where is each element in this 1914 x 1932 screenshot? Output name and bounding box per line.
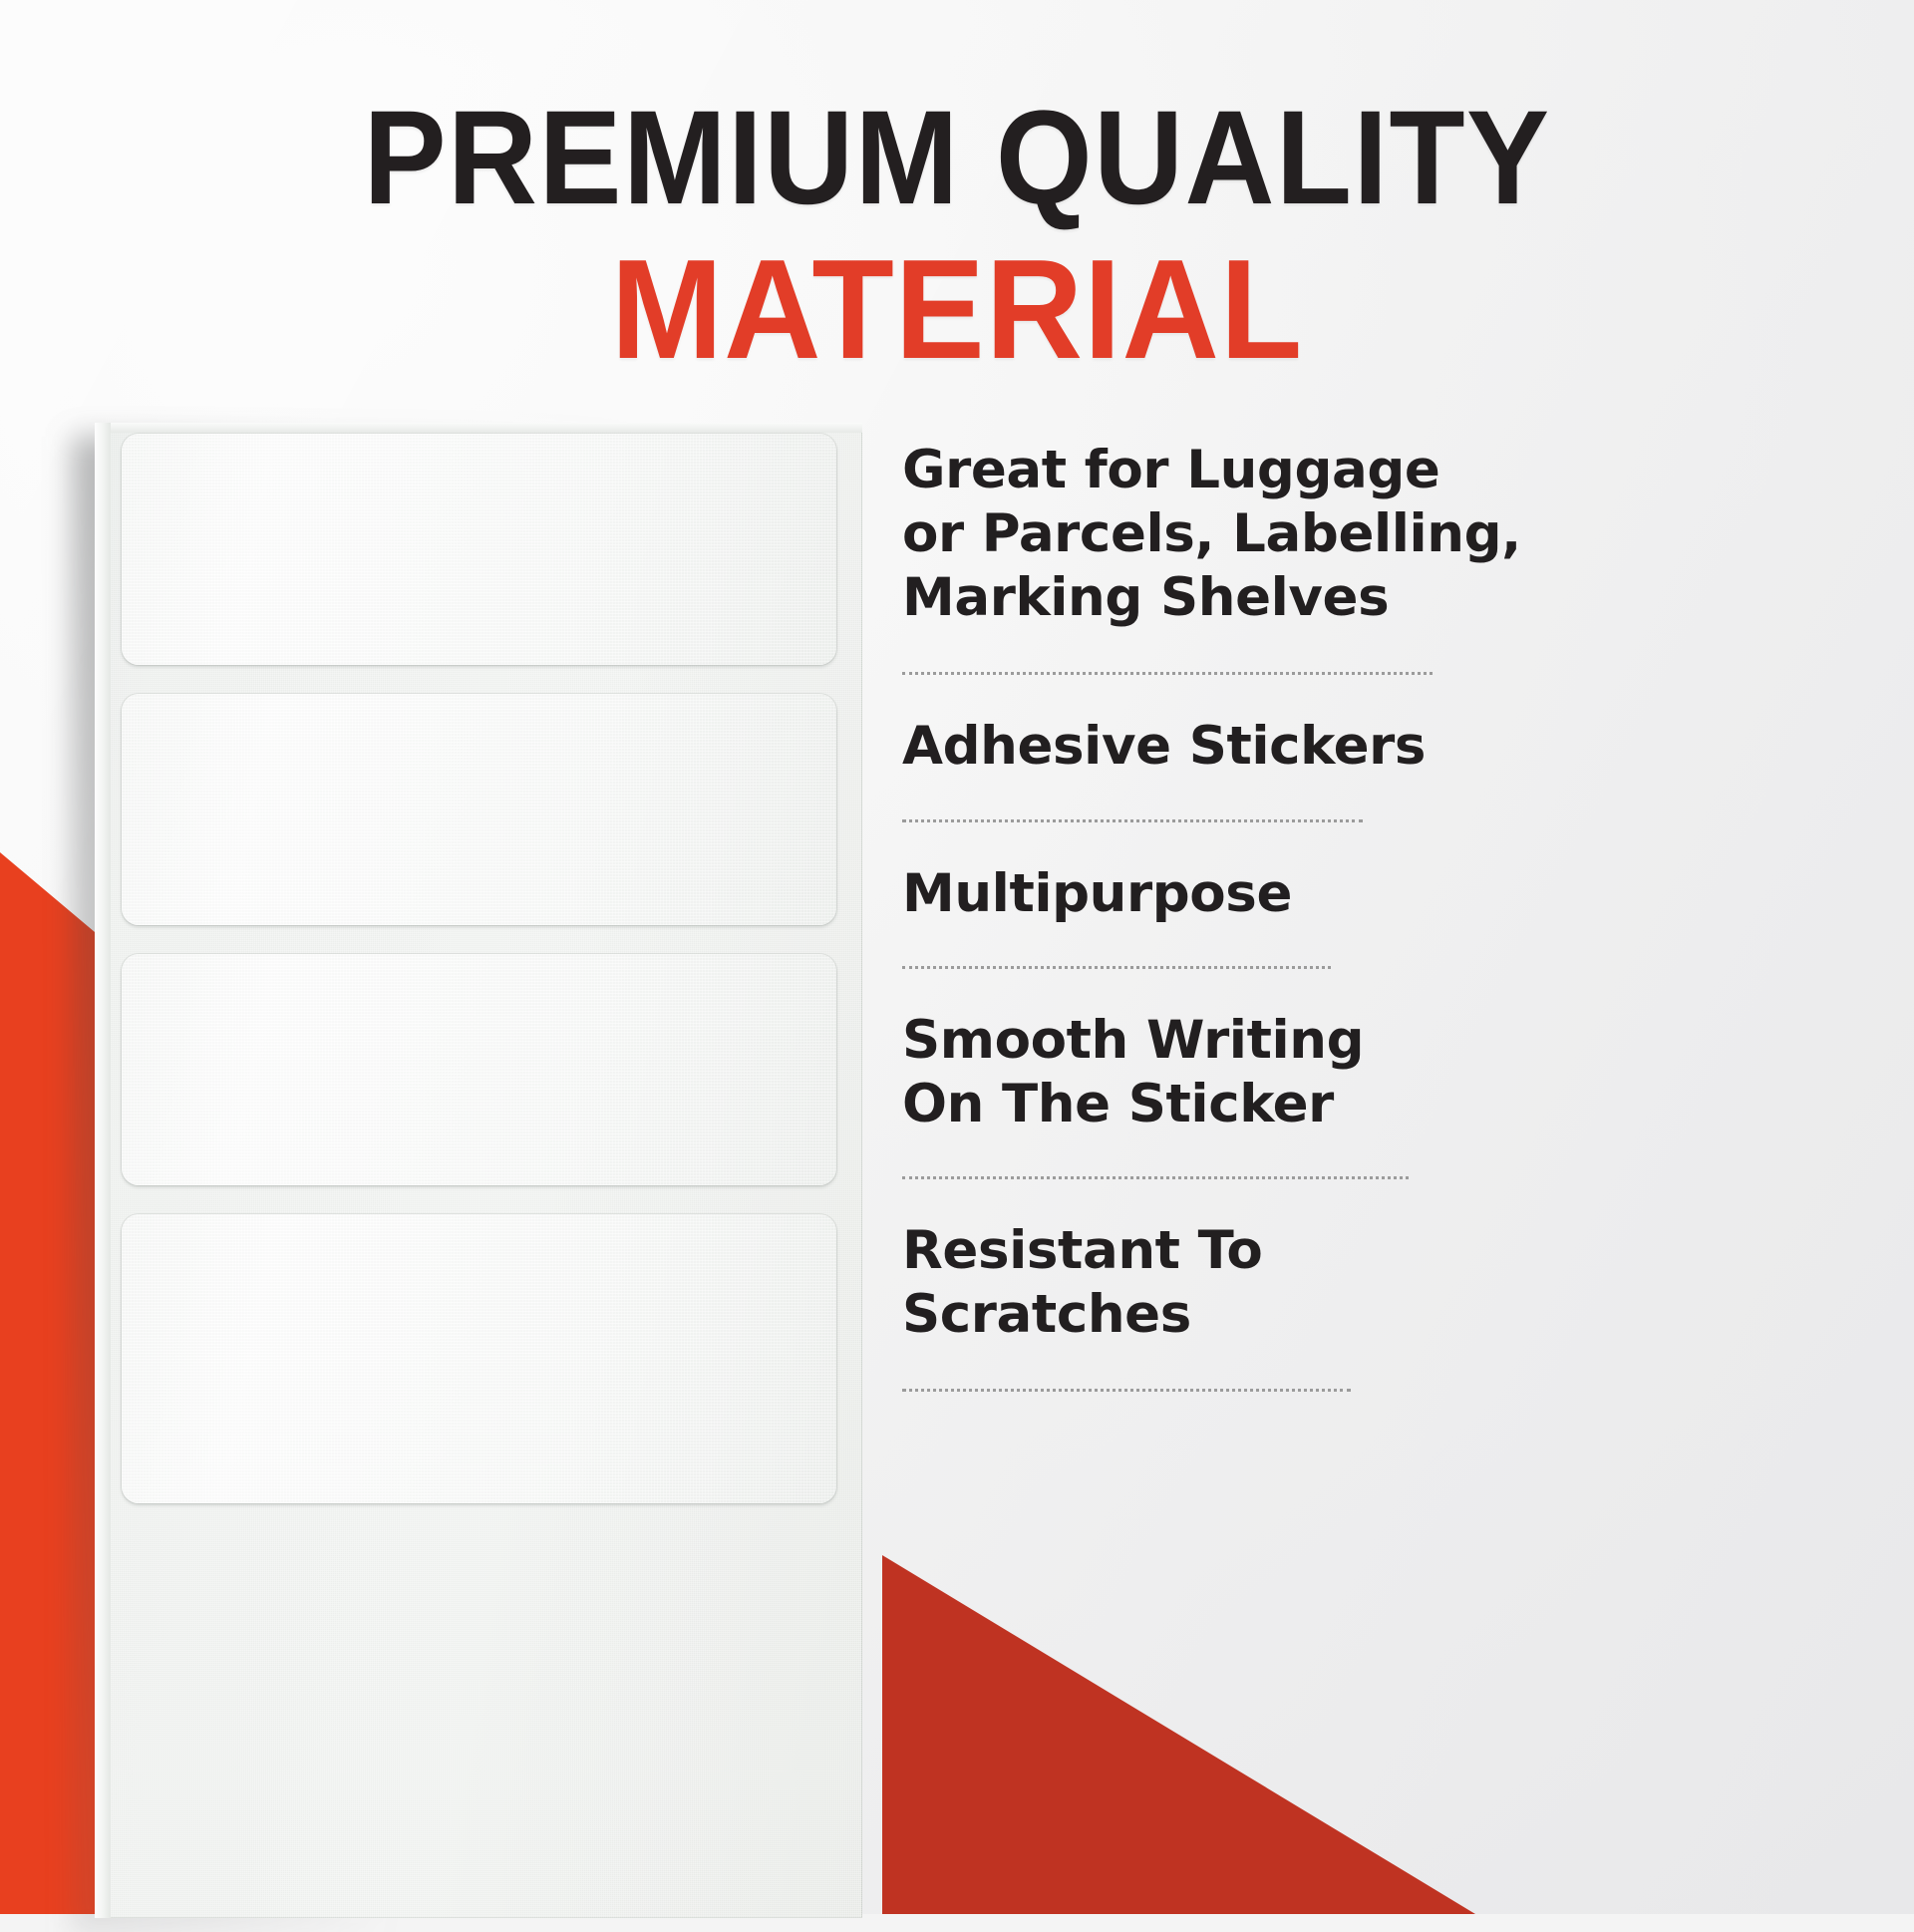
product-image-label-sheet	[95, 423, 862, 1918]
feature-separator	[902, 672, 1433, 675]
feature-label: Smooth Writing On The Sticker	[902, 1009, 1560, 1136]
sheet-backing-paper	[95, 423, 862, 1918]
sticker-surface	[122, 694, 836, 925]
feature-separator	[902, 966, 1331, 969]
sticker-surface	[122, 434, 836, 665]
feature-item-adhesive-stickers: Adhesive Stickers	[902, 715, 1560, 779]
feature-item-resistant-scratches: Resistant To Scratches	[902, 1219, 1560, 1347]
feature-item-luggage-parcels: Great for Luggage or Parcels, Labelling,…	[902, 439, 1560, 630]
sticker-2	[122, 694, 836, 925]
feature-label: Multipurpose	[902, 862, 1560, 926]
headline-primary: PREMIUM QUALITY	[67, 92, 1847, 225]
feature-label: Adhesive Stickers	[902, 715, 1560, 779]
sticker-surface	[122, 954, 836, 1185]
sticker-3	[122, 954, 836, 1185]
feature-item-multipurpose: Multipurpose	[902, 862, 1560, 926]
sheet-left-edge	[95, 423, 111, 1918]
feature-separator	[902, 1389, 1351, 1392]
headline-accent: MATERIAL	[48, 239, 1866, 381]
sticker-4	[122, 1214, 836, 1503]
feature-label: Great for Luggage or Parcels, Labelling,…	[902, 439, 1560, 630]
feature-separator	[902, 819, 1363, 822]
headline-block: PREMIUM QUALITY MATERIAL	[0, 92, 1914, 381]
feature-label: Resistant To Scratches	[902, 1219, 1560, 1347]
sticker-surface	[122, 1214, 836, 1503]
feature-separator	[902, 1176, 1409, 1179]
sheet-top-edge	[95, 423, 862, 433]
feature-item-smooth-writing: Smooth Writing On The Sticker	[902, 1009, 1560, 1136]
sticker-1	[122, 434, 836, 665]
feature-list: Great for Luggage or Parcels, Labelling,…	[902, 439, 1560, 1392]
